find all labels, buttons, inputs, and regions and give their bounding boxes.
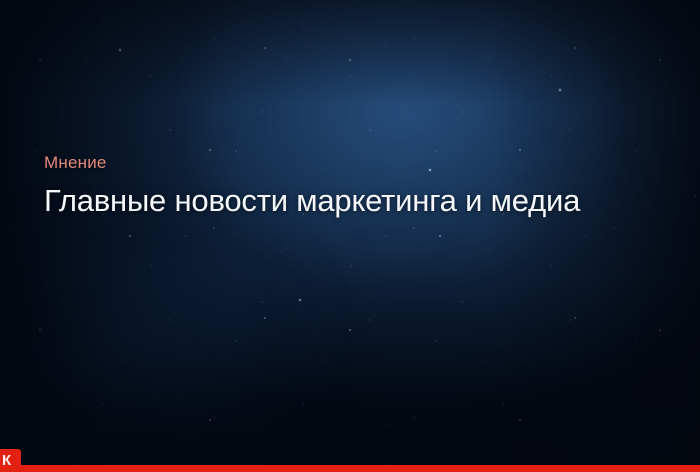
channel-logo-badge[interactable]: К xyxy=(0,449,21,472)
vignette-top xyxy=(0,0,700,104)
video-frame: Мнение Главные новости маркетинга и меди… xyxy=(0,0,700,472)
progress-bar-fill xyxy=(0,465,700,472)
channel-logo-glyph: К xyxy=(2,451,13,470)
category-label: Мнение xyxy=(44,152,690,174)
vignette-bottom xyxy=(0,274,700,472)
headline-text: Главные новости маркетинга и медиа xyxy=(44,182,690,220)
title-overlay: Мнение Главные новости маркетинга и меди… xyxy=(44,152,690,220)
progress-bar-track[interactable] xyxy=(0,465,700,472)
